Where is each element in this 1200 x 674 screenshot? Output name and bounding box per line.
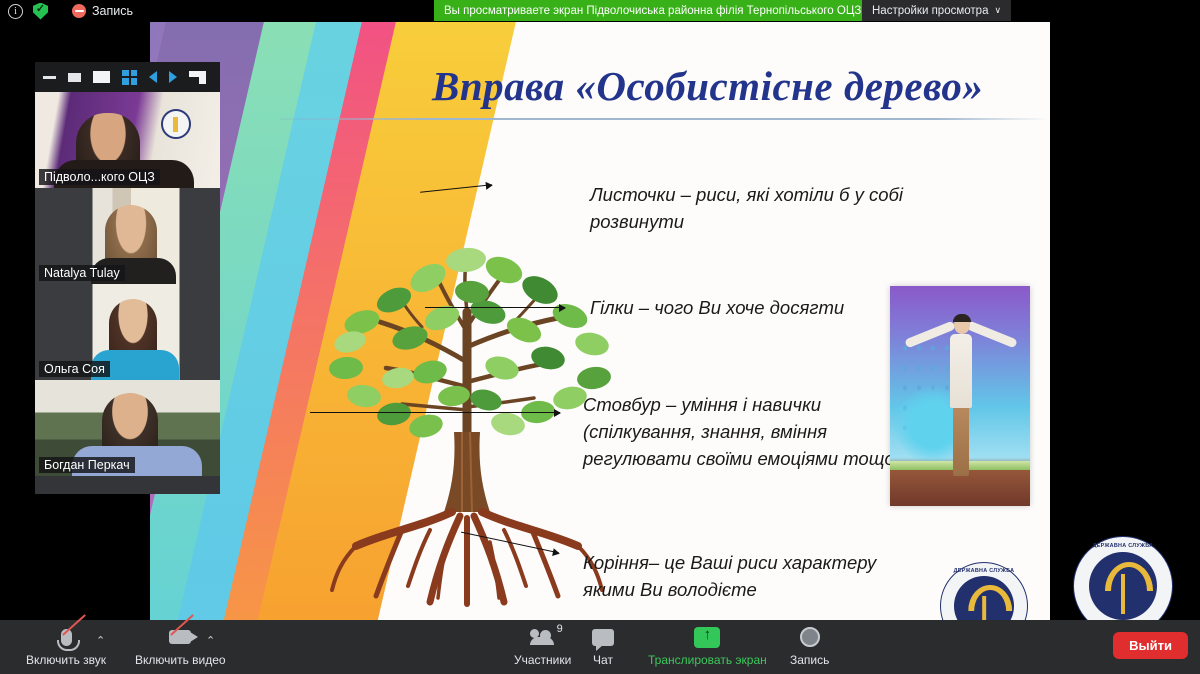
record-button[interactable]: Запись: [790, 625, 829, 667]
small-view-icon[interactable]: [68, 73, 81, 82]
participants-button[interactable]: 9 Участники: [514, 625, 571, 667]
shared-screen-slide: Вправа «Особистісне дерево»: [150, 22, 1050, 620]
video-tile[interactable]: Богдан Перкач: [35, 380, 220, 476]
share-screen-icon: [694, 625, 720, 649]
video-tile[interactable]: Підволо...кого ОЦЗ: [35, 92, 220, 188]
callout-arrow-3: [310, 412, 560, 413]
filmstrip-toolbar: [35, 62, 220, 92]
photo-right-arm: [966, 321, 1018, 349]
minimize-icon[interactable]: [43, 76, 56, 79]
record-label: Запись: [790, 653, 829, 667]
camera-muted-icon: [169, 625, 191, 649]
logo-figure-icon: [968, 585, 1000, 620]
photo-torso: [950, 334, 972, 408]
callout-arrow-2: [425, 307, 565, 308]
leave-meeting-button[interactable]: Выйти: [1113, 632, 1188, 659]
logo-figure-icon: [1105, 562, 1141, 614]
meeting-controls-bar: Включить звук ⌃ Включить видео ⌃ 9 Участ…: [0, 620, 1200, 674]
large-view-icon[interactable]: [93, 71, 110, 83]
chat-button[interactable]: Чат: [592, 625, 614, 667]
grid-view-icon[interactable]: [122, 70, 137, 85]
audio-options-caret-icon[interactable]: ⌃: [96, 634, 105, 647]
participant-name-label: Ольга Соя: [39, 361, 110, 377]
participant-name-label: Богдан Перкач: [39, 457, 135, 473]
security-shield-icon[interactable]: [33, 3, 48, 20]
video-options-caret-icon[interactable]: ⌃: [206, 634, 215, 647]
participants-icon: 9: [530, 625, 556, 649]
record-icon: [800, 625, 820, 649]
screen-share-banner: Вы просматриваете экран Підволочиська ра…: [434, 0, 871, 21]
next-arrow-icon[interactable]: [169, 71, 177, 83]
logo-top-text: ДЕРЖАВНА СЛУЖБА: [940, 568, 1028, 574]
previous-arrow-icon[interactable]: [149, 71, 157, 83]
photo-legs: [953, 404, 969, 476]
share-screen-button[interactable]: Транслировать экран: [648, 625, 767, 667]
person-photo: [890, 286, 1030, 506]
microphone-muted-icon: [61, 625, 72, 649]
participants-count-badge: 9: [557, 623, 563, 635]
callout-trunk: Стовбур – уміння і навички (спілкування,…: [583, 392, 903, 472]
unmute-audio-button[interactable]: Включить звук: [26, 625, 106, 667]
video-filmstrip: Підволо...кого ОЦЗ Natalya Tulay Ольга С…: [35, 62, 220, 494]
recording-status[interactable]: Запись: [72, 4, 133, 18]
recording-indicator-icon: [72, 4, 86, 18]
chat-label: Чат: [593, 653, 613, 667]
employment-service-logo: ДЕРЖАВНА СЛУЖБА ЗАЙНЯТОСТІ: [940, 562, 1028, 620]
chevron-down-icon: ∨: [994, 5, 1001, 16]
audio-label: Включить звук: [26, 653, 106, 667]
video-tile[interactable]: Ольга Соя: [35, 284, 220, 380]
top-left-controls: i Запись: [8, 0, 133, 22]
info-icon[interactable]: i: [8, 4, 23, 19]
photo-hair: [953, 314, 971, 322]
title-underline: [280, 118, 1050, 120]
logo-top-text: ДЕРЖАВНА СЛУЖБА: [1073, 543, 1173, 549]
participants-label: Участники: [514, 653, 571, 667]
callout-branches: Гілки – чого Ви хоче досягти: [590, 295, 930, 322]
video-tile[interactable]: Natalya Tulay: [35, 188, 220, 284]
participant-name-label: Natalya Tulay: [39, 265, 125, 281]
zoom-meeting-window: Вправа «Особистісне дерево»: [0, 0, 1200, 674]
video-label: Включить видео: [135, 653, 226, 667]
chat-icon: [592, 625, 614, 649]
recording-label: Запись: [92, 4, 133, 18]
slide-title: Вправа «Особистісне дерево»: [432, 62, 1050, 110]
view-settings-button[interactable]: Настройки просмотра ∨: [862, 0, 1011, 21]
share-label: Транслировать экран: [648, 653, 767, 667]
callout-roots: Коріння– це Ваші риси характеру якими Ви…: [583, 550, 923, 604]
top-status-bar: i Запись Вы просматриваете экран Підволо…: [0, 0, 1200, 22]
callout-leaves: Листочки – риси, які хотіли б у собі роз…: [590, 182, 920, 236]
video-wall-emblem: [161, 109, 191, 139]
popout-icon[interactable]: [189, 71, 206, 84]
participant-name-label: Підволо...кого ОЦЗ: [39, 169, 160, 185]
view-settings-label: Настройки просмотра: [872, 5, 988, 17]
